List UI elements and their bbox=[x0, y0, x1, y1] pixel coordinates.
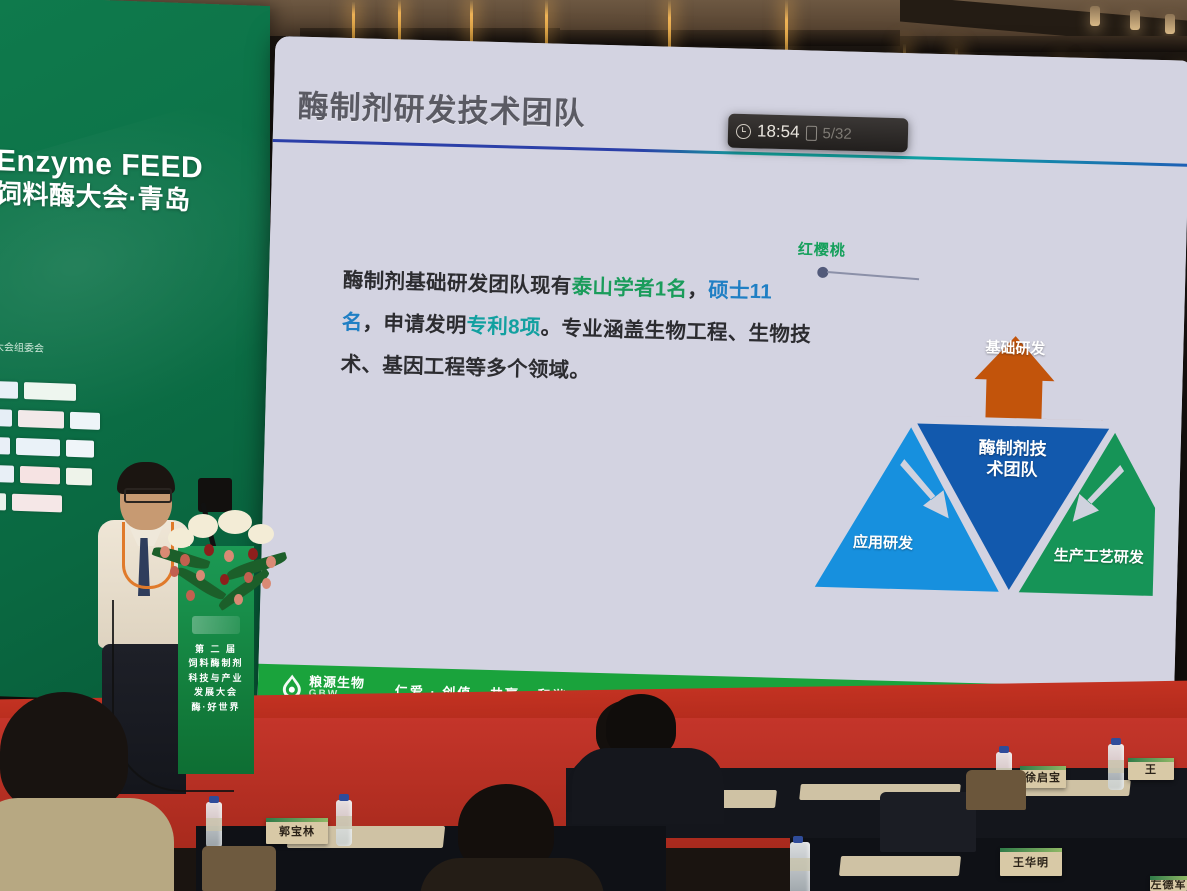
battery-icon bbox=[805, 125, 816, 140]
name-card: 王华明 bbox=[1000, 848, 1062, 876]
name-card: 王 bbox=[1128, 758, 1174, 780]
water-bottle bbox=[1108, 744, 1124, 790]
chair bbox=[966, 770, 1026, 810]
foreground-person-left bbox=[0, 692, 200, 891]
slide-body-text: 酶制剂基础研发团队现有泰山学者1名，硕士11名，申请发明专利8项。专业涵盖生物工… bbox=[340, 260, 813, 399]
name-card: 徐启宝 bbox=[1020, 766, 1066, 788]
downlight-icon bbox=[1130, 10, 1140, 30]
chair bbox=[880, 792, 976, 852]
name-card-text: 王 bbox=[1145, 761, 1157, 777]
triangle-label-top: 基础研发 bbox=[965, 339, 1065, 360]
name-card: 左德军 bbox=[1150, 876, 1187, 891]
sponsor-logo-grid bbox=[0, 380, 110, 525]
downlight-icon bbox=[1090, 6, 1100, 26]
water-bottle bbox=[206, 802, 222, 848]
body-seg-2: ， bbox=[687, 278, 708, 302]
body-seg-4: ，申请发明 bbox=[362, 311, 467, 337]
timer-overlay: 18:54 5/32 bbox=[728, 114, 909, 153]
name-card-text: 徐启宝 bbox=[1025, 769, 1061, 785]
name-card-text: 王华明 bbox=[1013, 854, 1049, 870]
glasses-icon bbox=[124, 488, 172, 503]
downlight-icon bbox=[1165, 14, 1175, 34]
banner-english-title: Enzyme FEED bbox=[0, 146, 196, 183]
projection-screen: 酶制剂研发技术团队 酶制剂基础研发团队现有泰山学者1名，硕士11名，申请发明专利… bbox=[257, 36, 1187, 733]
triangle-diagram: 红樱桃 基础研发 bbox=[781, 234, 1162, 600]
projection-screen-wrapper: 酶制剂研发技术团队 酶制剂基础研发团队现有泰山学者1名，硕士11名，申请发明专利… bbox=[257, 18, 1187, 743]
timer-time: 18:54 bbox=[757, 121, 800, 142]
triangle-label-center: 酶制剂技 术团队 bbox=[962, 437, 1063, 482]
name-card-text: 郭宝林 bbox=[279, 823, 315, 839]
body-seg-1: 泰山学者1名 bbox=[571, 275, 687, 301]
triangle-label-left: 应用研发 bbox=[828, 533, 938, 555]
banner-logo: Enzyme FEED 饲料酶大会·青岛 bbox=[0, 146, 196, 216]
water-bottle bbox=[336, 800, 352, 846]
chair bbox=[202, 846, 276, 891]
table-papers bbox=[839, 856, 961, 876]
clock-icon bbox=[736, 123, 751, 138]
flower-arrangement bbox=[152, 508, 284, 608]
triangle-label-right: 生产工艺研发 bbox=[1033, 547, 1163, 569]
name-card: 郭宝林 bbox=[266, 818, 328, 844]
body-seg-0: 酶制剂基础研发团队现有 bbox=[343, 269, 572, 298]
body-seg-5: 专利8项 bbox=[466, 314, 541, 339]
presentation-slide: 酶制剂研发技术团队 酶制剂基础研发团队现有泰山学者1名，硕士11名，申请发明专利… bbox=[257, 36, 1187, 733]
water-bottle bbox=[790, 842, 810, 891]
foreground-person-table bbox=[586, 694, 736, 814]
timer-counter: 5/32 bbox=[822, 125, 852, 143]
triangle-top-basic-research bbox=[921, 252, 1109, 421]
slide-title: 酶制剂研发技术团队 bbox=[297, 81, 586, 134]
conference-photo-scene: Enzyme FEED 饲料酶大会·青岛 大会组委会 酶制剂研发技术团队 酶制剂… bbox=[0, 0, 1187, 891]
